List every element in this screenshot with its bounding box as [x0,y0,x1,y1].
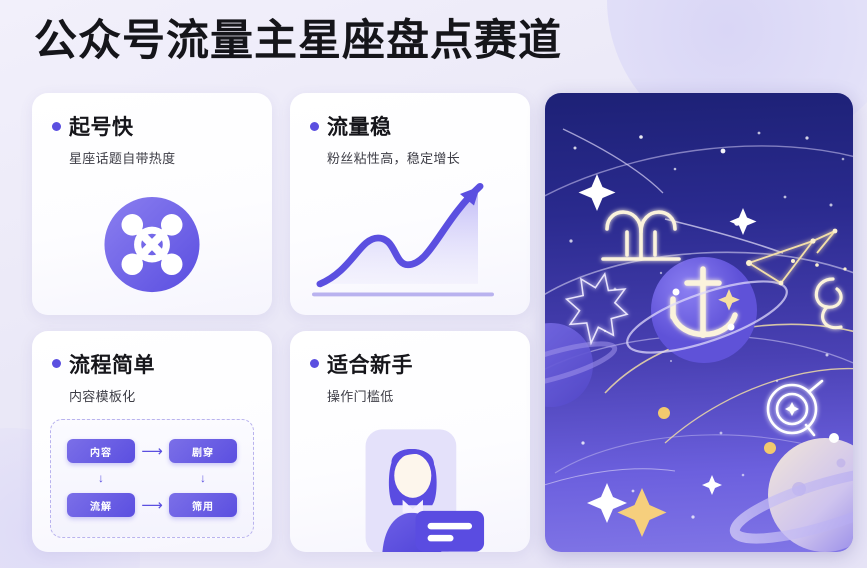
card-header: 流量稳 粉丝粘性高，稳定增长 [290,93,530,167]
space-scene-svg [545,93,853,552]
feature-card-liuchengjiandan[interactable]: 流程简单 内容模板化 内容 ⟶ 剧穿 ↓ ↓ 流解 ⟶ 筛用 [32,331,272,553]
card-title: 适合新手 [327,349,413,379]
person-message-icon [290,409,530,553]
bullet-dot-icon [52,122,61,131]
card-title-row: 适合新手 [310,349,530,379]
flow-arrow-right-bottom: ⟶ [141,498,163,513]
flow-diagram-grid: 内容 ⟶ 剧穿 ↓ ↓ 流解 ⟶ 筛用 [67,434,237,524]
card-subtitle: 内容模板化 [69,386,272,405]
poster-root: 公众号流量主星座盘点赛道 起号快 星座话题自带热度 [0,0,867,568]
flow-step-1[interactable]: 内容 [67,439,135,463]
card-subtitle: 粉丝粘性高，稳定增长 [327,148,530,167]
card-title-row: 起号快 [52,111,272,141]
card-header: 起号快 星座话题自带热度 [32,93,272,167]
small-planet [545,323,618,407]
feature-card-grid: 起号快 星座话题自带热度 [32,93,530,552]
card-title: 流程简单 [69,349,155,379]
card-title: 起号快 [69,111,134,141]
card-header: 流程简单 内容模板化 [32,331,272,405]
bullet-dot-icon [310,359,319,368]
flow-arrow-right-top: ⟶ [141,444,163,459]
flow-step-2[interactable]: 剧穿 [169,439,237,463]
feature-card-liuliangwen[interactable]: 流量稳 粉丝粘性高，稳定增长 [290,93,530,315]
network-node-icon [32,171,272,315]
gold-four-point-star [618,488,667,537]
flow-arrow-down-left: ↓ [98,472,104,484]
leo-symbol-icon [816,279,841,328]
card-subtitle: 操作门槛低 [327,386,530,405]
compass-target-icon [768,381,822,435]
flow-arrow-down-right: ↓ [200,472,206,484]
bullet-dot-icon [52,359,61,368]
growth-arrow-chart-icon [290,171,530,315]
card-title-row: 流量稳 [310,111,530,141]
zodiac-space-illustration [545,93,853,552]
feature-card-shihexinshou[interactable]: 适合新手 操作门槛低 [290,331,530,553]
card-subtitle: 星座话题自带热度 [69,148,272,167]
page-title: 公众号流量主星座盘点赛道 [34,16,562,67]
libra-planet [620,257,794,367]
flow-step-3[interactable]: 流解 [67,493,135,517]
card-header: 适合新手 操作门槛低 [290,331,530,405]
card-artwork-person [290,409,530,553]
bullet-dot-icon [310,122,319,131]
card-title-row: 流程简单 [52,349,272,379]
card-title: 流量稳 [327,111,392,141]
card-artwork-growth-chart [290,171,530,315]
feature-card-qihaokuai[interactable]: 起号快 星座话题自带热度 [32,93,272,315]
card-artwork-network [32,171,272,315]
saturn-planet [729,438,853,552]
flow-step-4[interactable]: 筛用 [169,493,237,517]
flow-diagram-container: 内容 ⟶ 剧穿 ↓ ↓ 流解 ⟶ 筛用 [50,419,254,539]
